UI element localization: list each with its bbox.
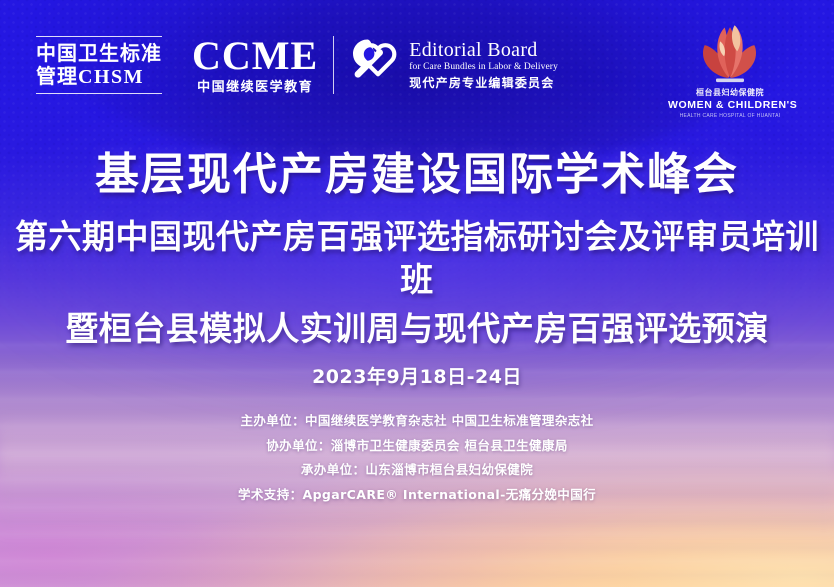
credit-line-co-organizer: 协办单位：淄博市卫生健康委员会 桓台县卫生健康局 [0, 440, 834, 453]
heart-baby-icon [347, 33, 401, 96]
ccme-acronym: CCME [192, 36, 318, 76]
editorial-board-title: Editorial Board [409, 40, 558, 60]
chsm-rule-top [36, 36, 162, 37]
ccme-subtitle: 中国继续医学教育 [192, 81, 318, 94]
subtitle-line-1: 第六期中国现代产房百强评选指标研讨会及评审员培训班 [0, 216, 834, 302]
credits-block: 主办单位：中国继续医学教育杂志社 中国卫生标准管理杂志社 协办单位：淄博市卫生健… [0, 415, 834, 513]
chsm-line2: 管理CHSM [36, 66, 162, 87]
event-date: 2023年9月18日-24日 [0, 362, 834, 389]
credit-line-organizer: 主办单位：中国继续医学教育杂志社 中国卫生标准管理杂志社 [0, 415, 834, 428]
page-title: 基层现代产房建设国际学术峰会 [0, 148, 834, 202]
logo-vertical-divider [333, 36, 334, 94]
editorial-board-subtitle: for Care Bundles in Labor & Delivery [409, 63, 558, 73]
lotus-flower-icon [668, 22, 792, 89]
logo-ccme: CCME 中国继续医学教育 [192, 36, 318, 94]
chsm-line2-latin: CHSM [78, 66, 144, 88]
conference-poster: 中国卫生标准 管理CHSM CCME 中国继续医学教育 [0, 0, 834, 587]
editorial-board-text: Editorial Board for Care Bundles in Labo… [409, 40, 558, 90]
partner-logos-group: 中国卫生标准 管理CHSM CCME 中国继续医学教育 [36, 33, 558, 96]
chsm-rule-bottom [36, 93, 162, 94]
hospital-english-name: WOMEN & CHILDREN'S [668, 100, 792, 112]
logo-bar: 中国卫生标准 管理CHSM CCME 中国继续医学教育 [0, 0, 834, 130]
hospital-tagline: HEALTH CARE HOSPITAL OF HUANTAI [668, 114, 792, 120]
chsm-line1: 中国卫生标准 [36, 43, 162, 63]
credit-line-academic-support: 学术支持：ApgarCARE® International-无痛分娩中国行 [0, 489, 834, 502]
logo-hospital: 桓台县妇幼保健院 WOMEN & CHILDREN'S HEALTH CARE … [668, 22, 792, 120]
hospital-chinese-name: 桓台县妇幼保健院 [668, 89, 792, 98]
credit-line-host: 承办单位：山东淄博市桓台县妇幼保健院 [0, 464, 834, 477]
chsm-line2-cn: 管理 [36, 64, 78, 88]
logo-editorial-board: Editorial Board for Care Bundles in Labo… [347, 33, 558, 96]
editorial-board-chinese: 现代产房专业编辑委员会 [409, 77, 558, 89]
subtitle-line-2: 暨桓台县模拟人实训周与现代产房百强评选预演 [0, 308, 834, 351]
logo-chsm: 中国卫生标准 管理CHSM [36, 33, 162, 96]
title-block: 基层现代产房建设国际学术峰会 第六期中国现代产房百强评选指标研讨会及评审员培训班… [0, 148, 834, 351]
